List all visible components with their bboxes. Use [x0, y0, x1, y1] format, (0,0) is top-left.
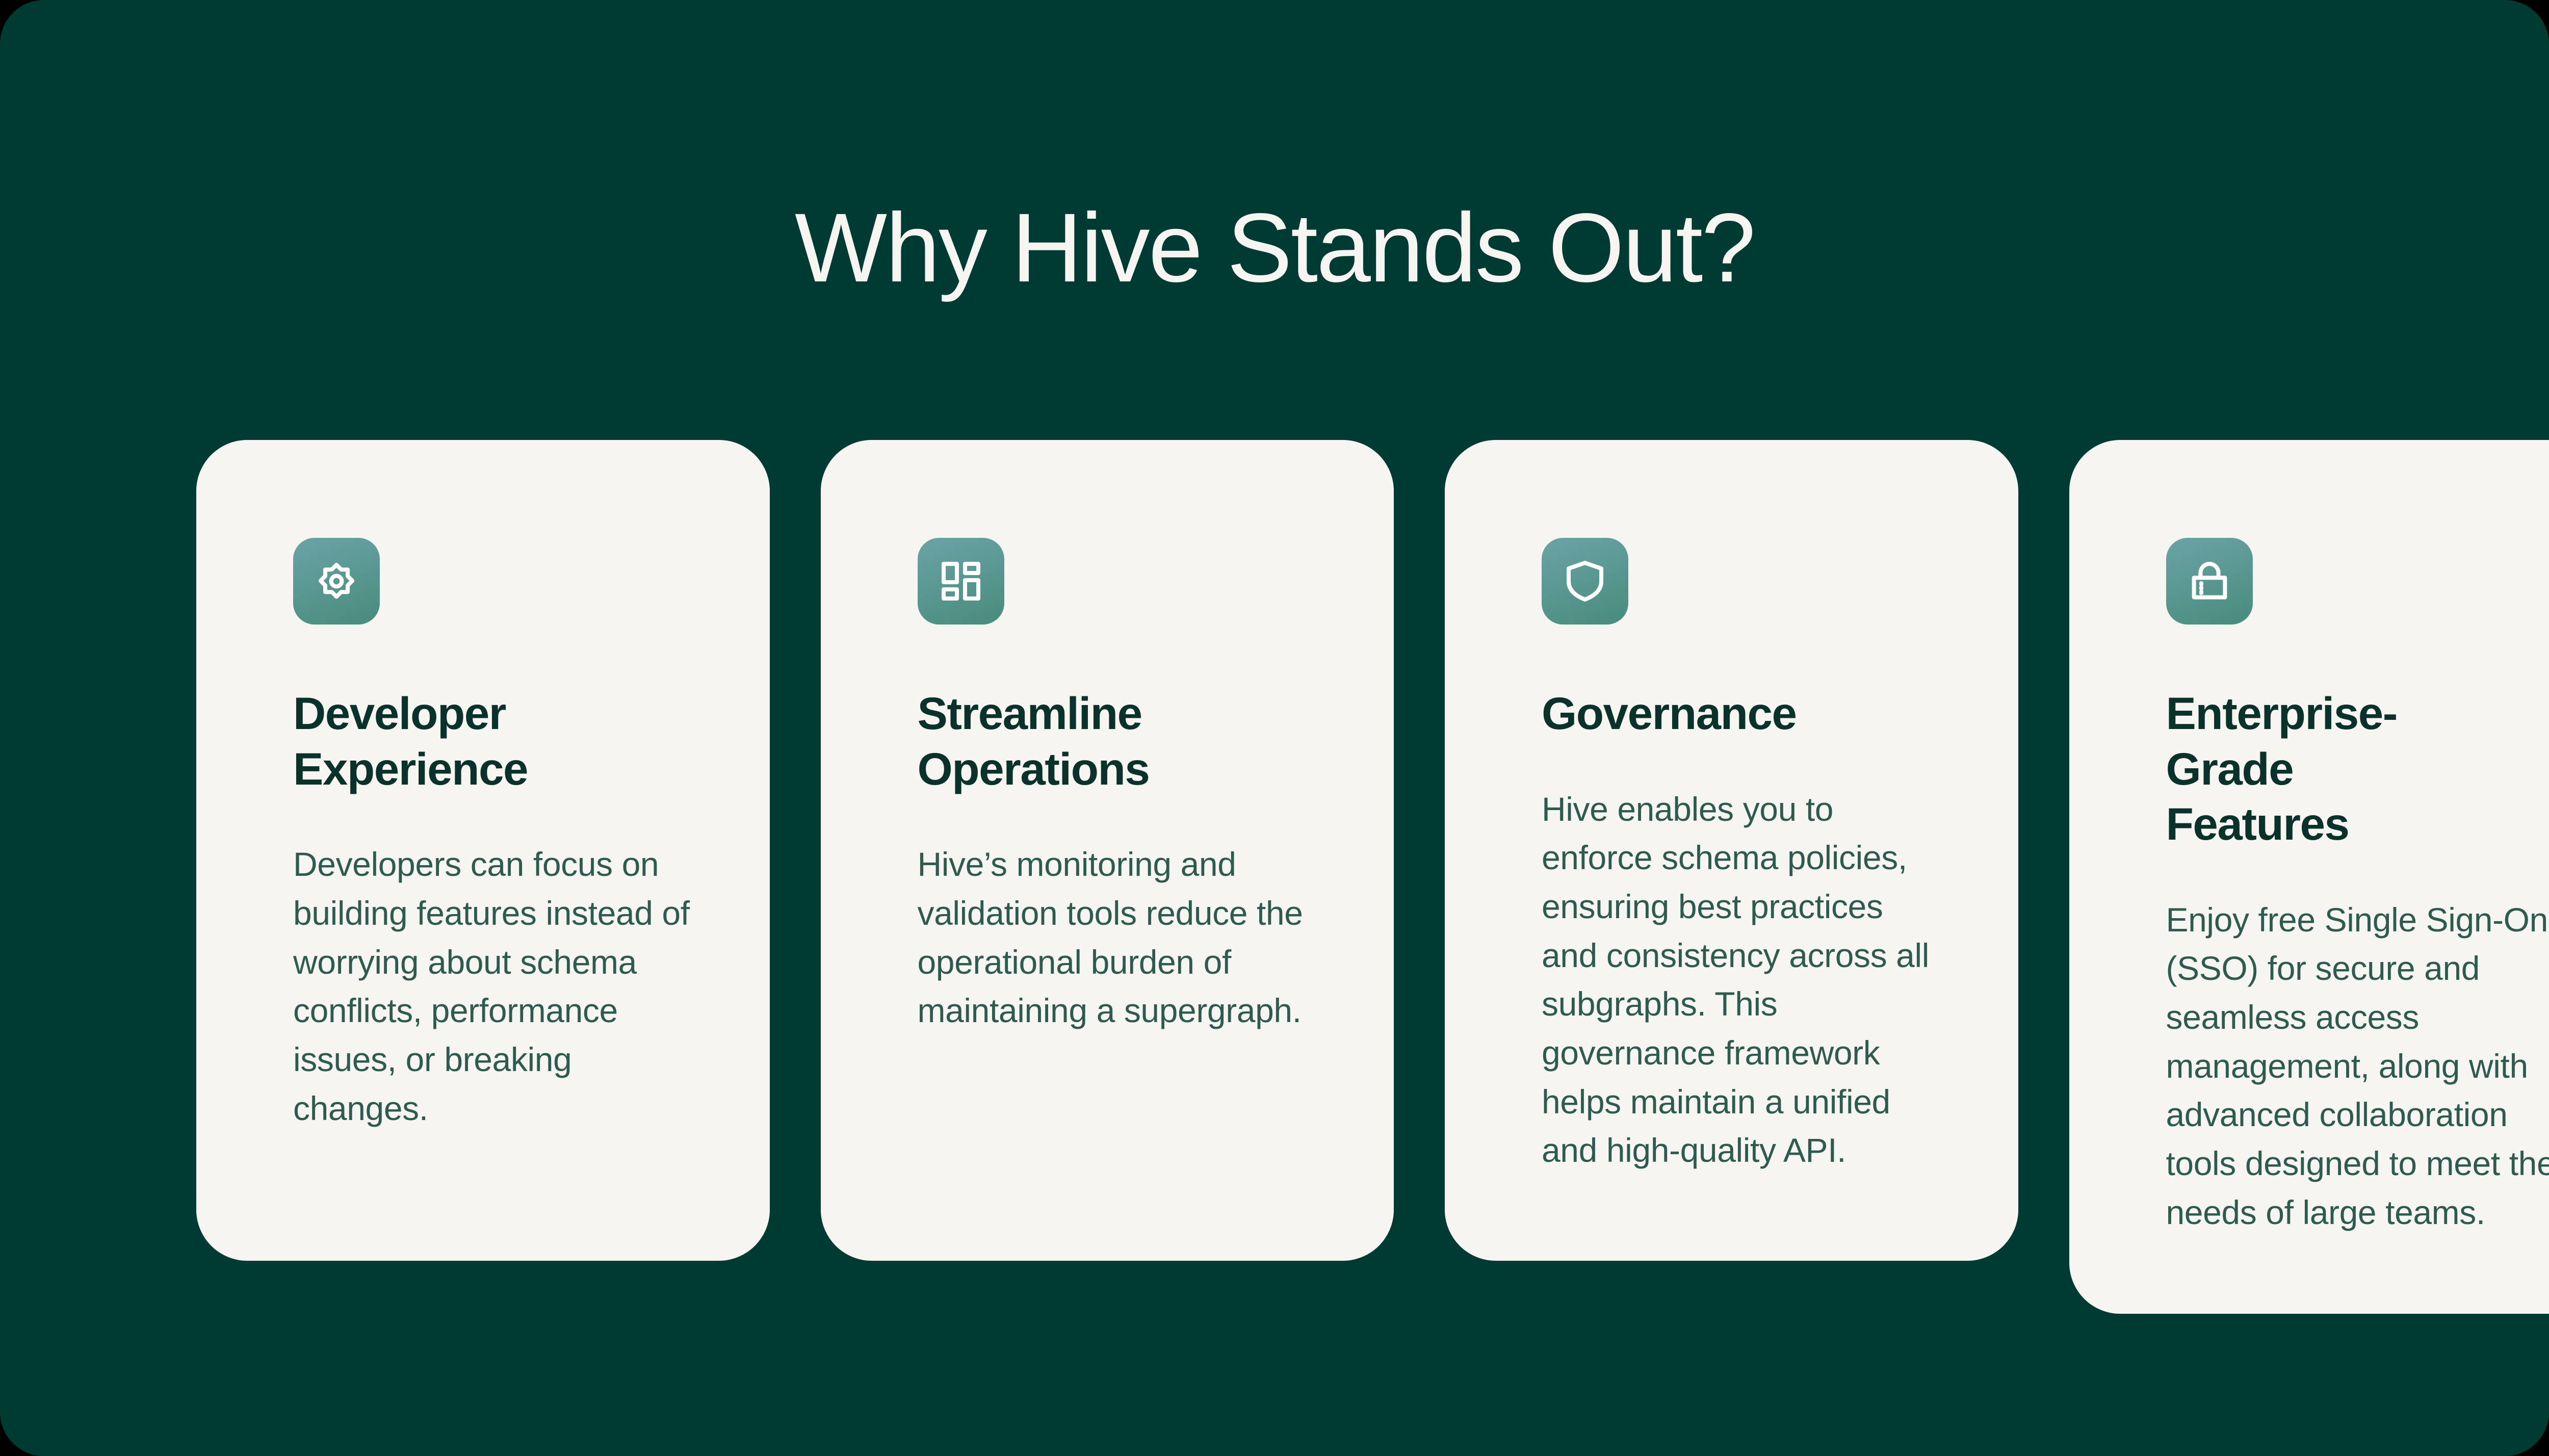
feature-card-governance[interactable]: Governance Hive enables you to enforce s… [1445, 440, 2018, 1261]
page-title: Why Hive Stands Out? [0, 199, 2549, 297]
page-root: Why Hive Stands Out? Developer Experienc… [0, 0, 2549, 1456]
card-body: Developers can focus on building feature… [293, 840, 693, 1133]
feature-card-developer-experience[interactable]: Developer Experience Developers can focu… [196, 440, 770, 1261]
card-title: Enterprise-Grade Features [2166, 686, 2443, 852]
feature-card-streamline-operations[interactable]: Streamline Operations Hive’s monitoring … [821, 440, 1394, 1261]
card-title: Developer Experience [293, 686, 570, 796]
dashboard-grid-icon [918, 538, 1004, 625]
card-title: Governance [1542, 686, 1819, 741]
feature-card-enterprise-grade-features[interactable]: Enterprise-Grade Features Enjoy free Sin… [2069, 440, 2549, 1314]
card-body: Hive enables you to enforce schema polic… [1542, 785, 1942, 1176]
shield-icon [1542, 538, 1628, 625]
card-body: Hive’s monitoring and validation tools r… [918, 840, 1318, 1035]
feature-card-grid: Developer Experience Developers can focu… [196, 440, 2549, 1314]
settings-gear-icon [293, 538, 380, 625]
lock-icon [2166, 538, 2253, 625]
card-body: Enjoy free Single Sign-On (SSO) for secu… [2166, 896, 2549, 1237]
card-title: Streamline Operations [918, 686, 1195, 796]
